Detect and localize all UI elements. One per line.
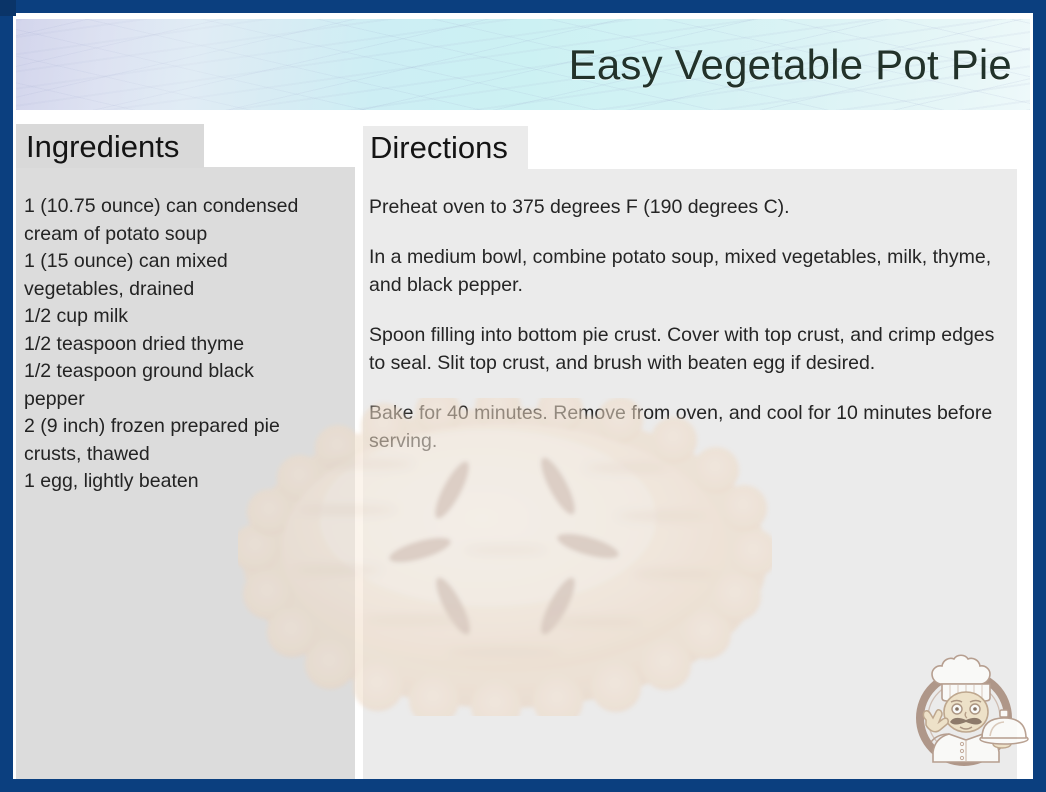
- list-item: 1/2 teaspoon dried thyme: [24, 331, 345, 359]
- directions-heading-label: Directions: [370, 132, 508, 163]
- ingredients-panel: 1 (10.75 ounce) can condensed cream of p…: [16, 167, 355, 779]
- direction-step: Spoon filling into bottom pie crust. Cov…: [369, 321, 999, 377]
- ingredients-heading: Ingredients: [16, 124, 204, 168]
- ingredients-list: 1 (10.75 ounce) can condensed cream of p…: [16, 167, 355, 496]
- slide-corner-accent: [0, 0, 16, 16]
- page-title: Easy Vegetable Pot Pie: [569, 44, 1012, 86]
- direction-step: Preheat oven to 375 degrees F (190 degre…: [369, 193, 999, 221]
- list-item: 1 (10.75 ounce) can condensed: [24, 193, 345, 221]
- list-item: 1 (15 ounce) can mixed: [24, 248, 345, 276]
- title-banner: Easy Vegetable Pot Pie: [16, 19, 1030, 110]
- recipe-slide: Easy Vegetable Pot Pie Ingredients Direc…: [0, 0, 1046, 792]
- direction-step: In a medium bowl, combine potato soup, m…: [369, 243, 999, 299]
- direction-step: Bake for 40 minutes. Remove from oven, a…: [369, 399, 999, 455]
- chef-logo: [902, 648, 1030, 776]
- list-item: 1 egg, lightly beaten: [24, 468, 345, 496]
- list-item: cream of potato soup: [24, 221, 345, 249]
- list-item: crusts, thawed: [24, 441, 345, 469]
- list-item: 2 (9 inch) frozen prepared pie: [24, 413, 345, 441]
- directions-steps: Preheat oven to 375 degrees F (190 degre…: [363, 169, 1017, 455]
- slide-border-top: [0, 0, 1046, 13]
- list-item: 1/2 teaspoon ground black: [24, 358, 345, 386]
- slide-border-bottom: [0, 779, 1046, 792]
- ingredients-heading-label: Ingredients: [26, 131, 179, 162]
- list-item: pepper: [24, 386, 345, 414]
- slide-border-right: [1033, 0, 1046, 792]
- directions-heading: Directions: [363, 126, 528, 169]
- list-item: 1/2 cup milk: [24, 303, 345, 331]
- list-item: vegetables, drained: [24, 276, 345, 304]
- slide-border-left: [0, 0, 13, 792]
